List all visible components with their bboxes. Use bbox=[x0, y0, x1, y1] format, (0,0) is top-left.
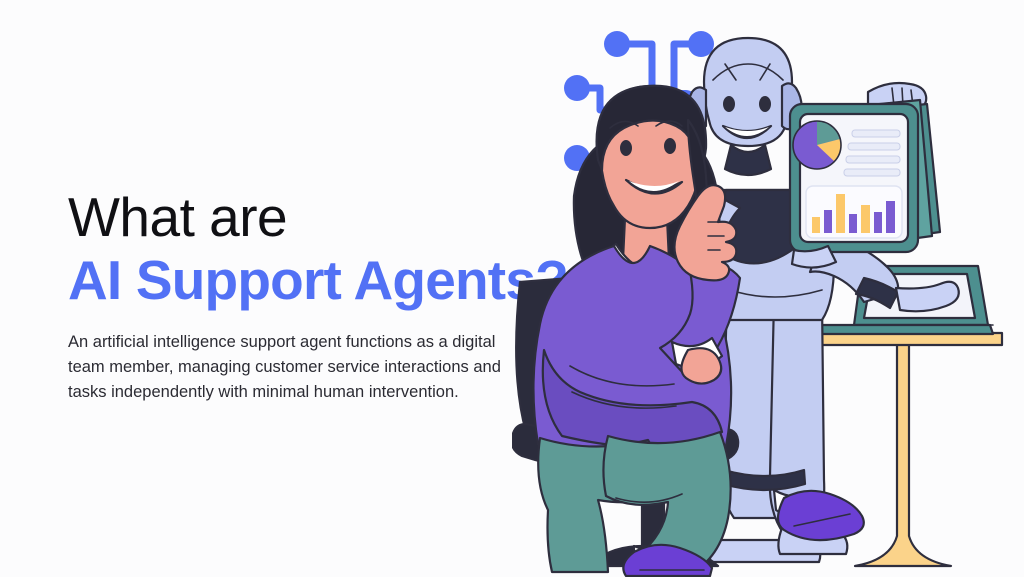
ai-support-agent-illustration: .ol { stroke:#2e2e3e; stroke-width:2.2; … bbox=[512, 0, 1024, 577]
tablet-pie-chart bbox=[793, 121, 841, 169]
page-title-line-2: AI Support Agents? bbox=[68, 249, 528, 312]
body-paragraph: An artificial intelligence support agent… bbox=[68, 330, 513, 405]
page-title-line-1: What are bbox=[68, 186, 528, 249]
analytics-clipboard bbox=[790, 100, 940, 268]
slide-root: What are AI Support Agents? An artificia… bbox=[0, 0, 1024, 577]
tablet-bar-chart bbox=[806, 186, 902, 238]
text-block: What are AI Support Agents? An artificia… bbox=[68, 186, 528, 405]
